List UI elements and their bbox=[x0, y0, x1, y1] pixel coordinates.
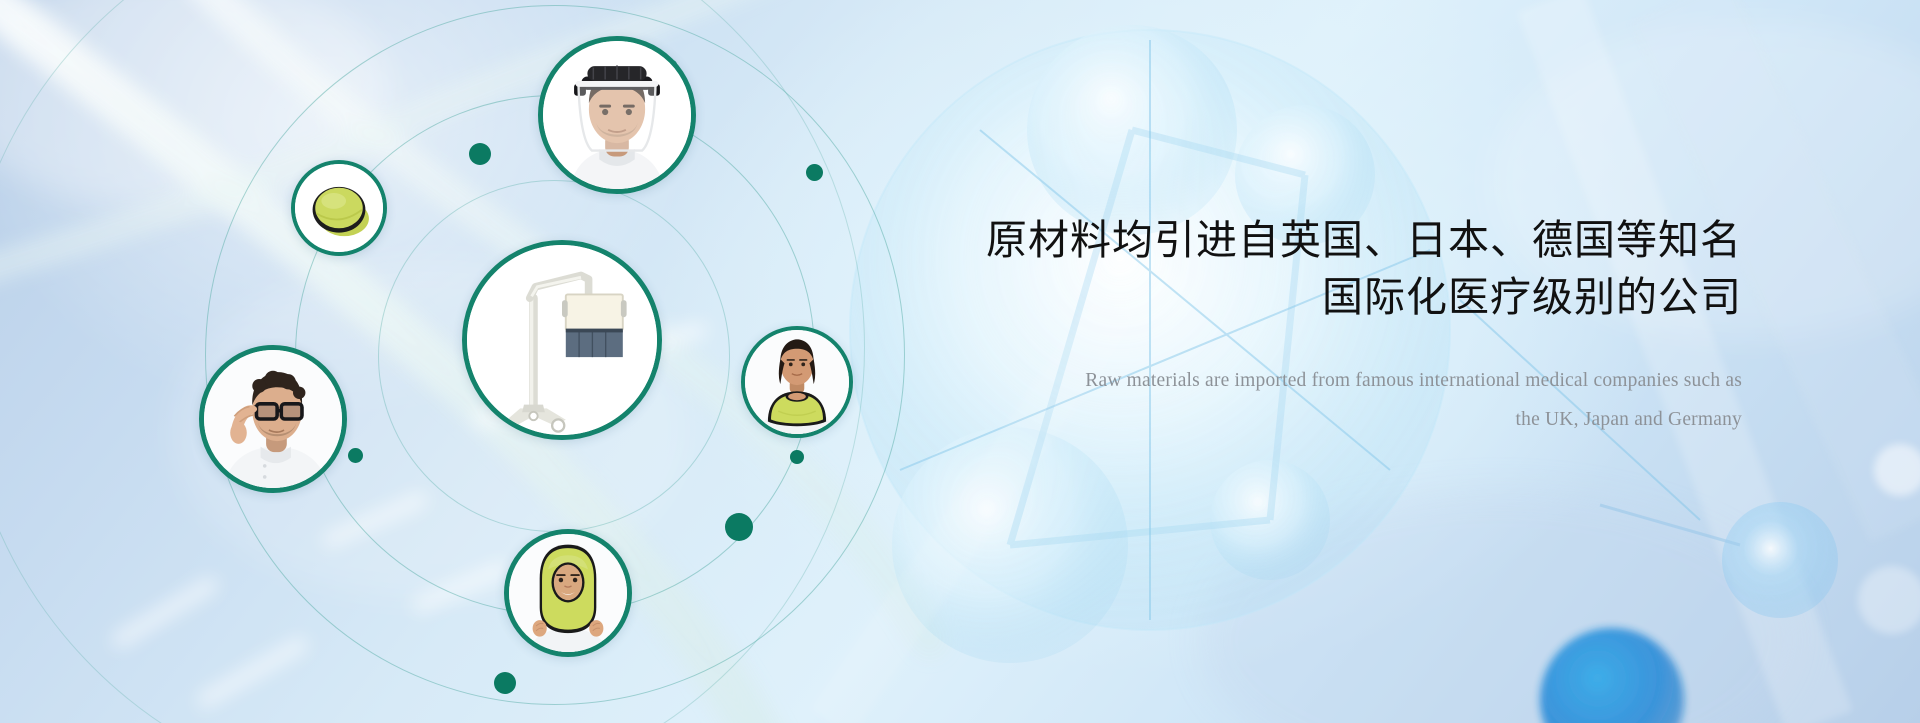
orbit-dot-4 bbox=[790, 450, 804, 464]
bubble-face-shield-man[interactable] bbox=[538, 36, 696, 194]
thyroid-collar-woman-art bbox=[745, 330, 849, 434]
bubble-protective-hood-woman[interactable] bbox=[504, 529, 632, 657]
mobile-x-ray-shield-art bbox=[467, 245, 657, 435]
subtitle-line-2: the UK, Japan and Germany bbox=[942, 400, 1742, 439]
orbit-dot-6 bbox=[494, 672, 516, 694]
bubble-glasses-man[interactable] bbox=[199, 345, 347, 493]
orbit-dot-1 bbox=[469, 143, 491, 165]
bubble-mobile-x-ray-shield[interactable] bbox=[462, 240, 662, 440]
lead-cap-art bbox=[295, 164, 383, 252]
orbit-dot-5 bbox=[725, 513, 753, 541]
face-shield-man-art bbox=[543, 41, 691, 189]
protective-hood-woman-art bbox=[509, 534, 627, 652]
hero-subtitle: Raw materials are imported from famous i… bbox=[942, 361, 1742, 439]
bubble-lead-cap[interactable] bbox=[291, 160, 387, 256]
headline-line-2: 国际化医疗级别的公司 bbox=[942, 269, 1742, 326]
orbit-dot-2 bbox=[806, 164, 823, 181]
hero-copy: 原材料均引进自英国、日本、德国等知名 国际化医疗级别的公司 Raw materi… bbox=[942, 212, 1742, 439]
hero-banner: 原材料均引进自英国、日本、德国等知名 国际化医疗级别的公司 Raw materi… bbox=[0, 0, 1920, 723]
page-title: 原材料均引进自英国、日本、德国等知名 国际化医疗级别的公司 bbox=[942, 212, 1742, 325]
orbit-dot-3 bbox=[348, 448, 363, 463]
subtitle-line-1: Raw materials are imported from famous i… bbox=[1085, 370, 1742, 391]
bubble-thyroid-collar-woman[interactable] bbox=[741, 326, 853, 438]
headline-line-1: 原材料均引进自英国、日本、德国等知名 bbox=[986, 217, 1742, 263]
glasses-man-art bbox=[204, 350, 342, 488]
